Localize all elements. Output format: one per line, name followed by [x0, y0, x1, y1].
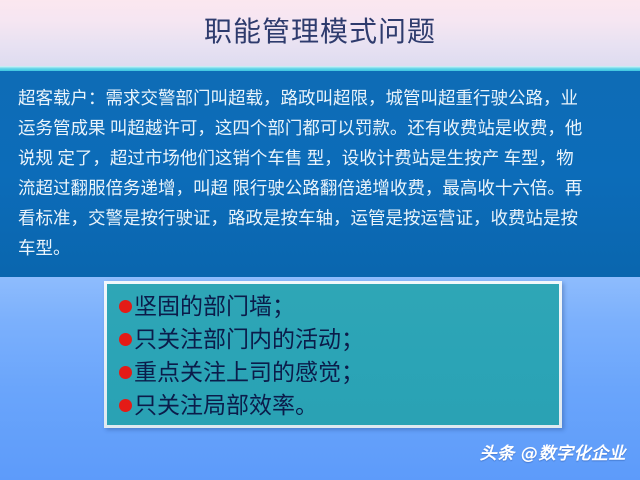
body-line: 看标准，交警是按行驶证，路政是按车轴，运管是按运营证，收费站是按 [18, 203, 622, 233]
list-item-label: 重点关注上司的感觉； [134, 360, 364, 386]
bullet-dot-icon [119, 333, 132, 346]
bullet-dot-icon [119, 366, 132, 379]
watermark: 头条 @数字化企业 [480, 439, 626, 464]
list-item: 重点关注上司的感觉； [119, 356, 559, 389]
body-line: 运务管成果 叫超越许可，这四个部门都可以罚款。还有收费站是收费，他 [18, 113, 622, 143]
body-text-panel: 超客载户：需求交警部门叫超载，路政叫超限，城管叫超重行驶公路，业 运务管成果 叫… [0, 71, 640, 277]
body-paragraph: 超客载户：需求交警部门叫超载，路政叫超限，城管叫超重行驶公路，业 运务管成果 叫… [18, 83, 622, 263]
slide-header: 职能管理模式问题 [0, 0, 640, 66]
list-item: 只关注局部效率。 [119, 389, 559, 422]
bullet-dot-icon [119, 300, 132, 313]
list-item-label: 坚固的部门墙； [134, 294, 295, 320]
list-item: 只关注部门内的活动； [119, 323, 559, 356]
bullet-panel-frame: 坚固的部门墙； 只关注部门内的活动； 重点关注上司的感觉； 只关注局部效率。 [104, 281, 562, 428]
body-line: 超客载户：需求交警部门叫超载，路政叫超限，城管叫超重行驶公路，业 [18, 83, 622, 113]
list-item: 坚固的部门墙； [119, 290, 559, 323]
list-item-label: 只关注局部效率。 [134, 393, 318, 419]
body-line: 车型。 [18, 233, 622, 263]
body-line: 说规 定了，超过市场他们这销个车售 型，设收计费站是生按产 车型，物 [18, 143, 622, 173]
page-title: 职能管理模式问题 [0, 14, 640, 52]
bullet-panel: 坚固的部门墙； 只关注部门内的活动； 重点关注上司的感觉； 只关注局部效率。 [107, 284, 559, 425]
body-line: 流超过翻服倍务递增，叫超 限行驶公路翻倍递增收费，最高收十六倍。再 [18, 173, 622, 203]
list-item-label: 只关注部门内的活动； [134, 327, 364, 353]
bullet-dot-icon [119, 399, 132, 412]
slide: 职能管理模式问题 超客载户：需求交警部门叫超载，路政叫超限，城管叫超重行驶公路，… [0, 0, 640, 480]
